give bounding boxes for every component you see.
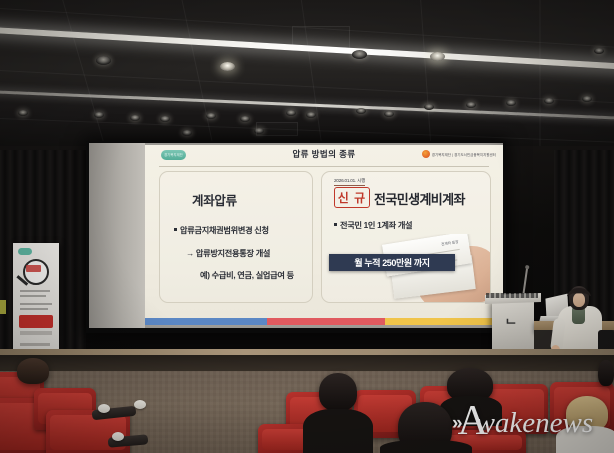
slide-card-right: 2026.01.01. 시행 신 규 전국민생계비계좌 전국민 1인 1계좌 개… bbox=[321, 171, 491, 303]
left-card-bullet-2: → 압류방지전용통장 개설 bbox=[186, 247, 270, 259]
audience-shoulders bbox=[303, 409, 373, 453]
podium-control-panel bbox=[486, 293, 538, 298]
audience-head bbox=[598, 360, 614, 386]
left-card-bullet-1: 압류금지채권범위변경 신청 bbox=[174, 224, 269, 236]
screen-unused-margin bbox=[89, 143, 145, 328]
speaker-face bbox=[573, 293, 585, 307]
lecture-hall-photo: 경기복지재단 압류 방법의 종류 경기복지재단 | 경기도서민금융복지지원센터 … bbox=[0, 0, 614, 453]
rollup-banner bbox=[13, 243, 59, 356]
cup-holder bbox=[134, 400, 146, 409]
left-card-title: 계좌압류 bbox=[192, 190, 237, 209]
audience-head bbox=[17, 358, 49, 384]
slide-bottom-stripes bbox=[145, 318, 503, 325]
stage-shadow-band bbox=[0, 355, 614, 371]
magnifier-icon bbox=[23, 259, 49, 285]
projection-screen: 경기복지재단 압류 방법의 종류 경기복지재단 | 경기도서민금융복지지원센터 … bbox=[89, 143, 503, 328]
partner-logo: 경기복지재단 | 경기도서민금융복지지원센터 bbox=[422, 150, 496, 158]
highlight-banner-label: 월 누적 250만원 까지 bbox=[354, 256, 429, 269]
slide-header: 경기복지재단 압류 방법의 종류 경기복지재단 | 경기도서민금융복지지원센터 bbox=[145, 145, 503, 165]
new-badge-label: 신 규 bbox=[338, 189, 366, 206]
watermark-a-logo bbox=[458, 404, 488, 442]
stripe-red bbox=[267, 318, 385, 325]
rollup-red-text-block bbox=[26, 265, 41, 272]
cup-holder bbox=[98, 404, 110, 413]
stripe-blue bbox=[145, 318, 267, 325]
bullet-dot-icon bbox=[334, 223, 337, 226]
bullet-dot-icon bbox=[174, 228, 177, 231]
partner-logo-label: 경기복지재단 | 경기도서민금융복지지원센터 bbox=[432, 152, 496, 157]
highlight-banner: 월 누적 250만원 까지 bbox=[329, 254, 455, 271]
audience-head bbox=[319, 373, 357, 411]
watermark: » wakenews bbox=[452, 404, 593, 442]
rollup-subtext-block bbox=[20, 331, 52, 335]
stripe-yellow bbox=[385, 318, 503, 325]
rollup-footer-block bbox=[20, 343, 50, 346]
rollup-headline-block bbox=[19, 315, 53, 328]
slide-card-left: 계좌압류 압류금지채권범위변경 신청 → 압류방지전용통장 개설 예) 수급비,… bbox=[159, 171, 313, 303]
document-caption: 전계좌 등장 bbox=[441, 240, 459, 248]
ceiling bbox=[0, 0, 614, 152]
left-card-bullet-3: 예) 수급비, 연금, 실업급여 등 bbox=[200, 269, 294, 281]
cup-holder bbox=[112, 432, 124, 441]
watermark-label: wakenews bbox=[476, 409, 594, 438]
right-card-bullet-1: 전국민 1인 1계좌 개설 bbox=[334, 219, 412, 231]
right-card-title: 전국민생계비계좌 bbox=[374, 189, 465, 208]
slide-header-divider bbox=[159, 166, 489, 167]
new-badge: 신 규 bbox=[334, 187, 370, 208]
rollup-logo-icon bbox=[18, 248, 32, 255]
right-card-date-note: 2026.01.01. 시행 bbox=[334, 178, 365, 186]
wall-light-strip bbox=[0, 300, 6, 314]
partner-logo-icon bbox=[422, 150, 430, 158]
presentation-slide: 경기복지재단 압류 방법의 종류 경기복지재단 | 경기도서민금융복지지원센터 … bbox=[145, 145, 503, 325]
podium-logo: ᄂ bbox=[505, 314, 517, 333]
